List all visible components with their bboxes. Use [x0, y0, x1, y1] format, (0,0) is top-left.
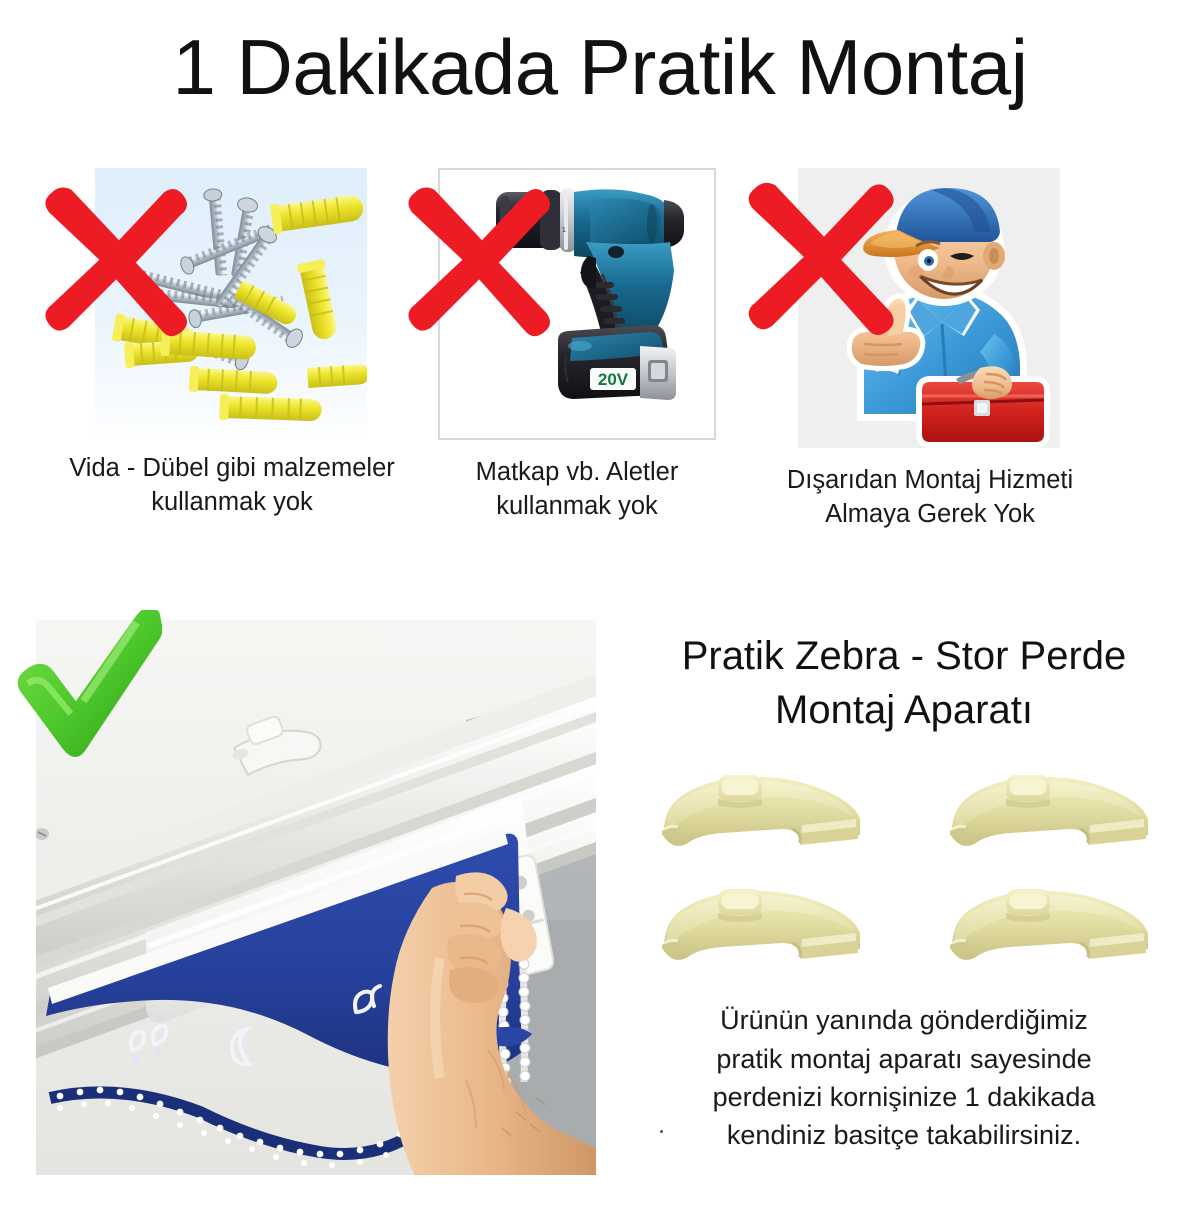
cordless-drill-illustration: 1: [440, 170, 714, 438]
caption-line-2: kullanmak yok: [422, 490, 732, 524]
product-description: Ürünün yanında gönderdiğimiz pratik mont…: [608, 1001, 1200, 1154]
product-heading-line-2: Montaj Aparatı: [620, 684, 1188, 738]
cordless-drill-photo: 1: [438, 168, 716, 440]
product-section: Pratik Zebra - Stor Perde Montaj Aparatı: [608, 630, 1200, 1155]
svg-text:1: 1: [562, 227, 566, 234]
caption-line-2: kullanmak yok: [58, 486, 406, 520]
caption-line-1: Matkap vb. Aletler: [422, 456, 732, 490]
no-need-card-drill: 1: [422, 168, 752, 524]
product-heading: Pratik Zebra - Stor Perde Montaj Aparatı: [608, 630, 1200, 737]
card-caption: Dışarıdan Montaj Hizmeti Almaya Gerek Yo…: [760, 464, 1100, 532]
caption-line-1: Vida - Dübel gibi malzemeler: [58, 452, 406, 486]
screws-and-dowels-photo: [95, 168, 367, 436]
description-line-2: pratik montaj aparatı sayesinde: [632, 1040, 1176, 1078]
product-heading-line-1: Pratik Zebra - Stor Perde: [620, 630, 1188, 684]
mounting-bracket-2: [940, 759, 1160, 855]
battery-voltage-label: 20V: [598, 370, 629, 389]
mounting-bracket-4: [940, 873, 1160, 969]
description-line-3: perdenizi kornişinize 1 dakikada: [632, 1078, 1176, 1116]
description-line-4: kendiniz basitçe takabilirsiniz.: [632, 1116, 1176, 1154]
screws-and-dowels-illustration: [95, 168, 367, 436]
caption-line-1: Dışarıdan Montaj Hizmeti: [760, 464, 1100, 498]
handyman-cartoon: [798, 168, 1060, 448]
stray-dot-artifact: [660, 1130, 663, 1133]
description-line-1: Ürünün yanında gönderdiğimiz: [632, 1001, 1176, 1039]
mounting-bracket-3: [652, 873, 872, 969]
blind-installation-photo: [36, 620, 596, 1175]
card-caption: Vida - Dübel gibi malzemeler kullanmak y…: [58, 452, 406, 520]
no-need-card-screws: Vida - Dübel gibi malzemeler kullanmak y…: [58, 168, 388, 520]
mounting-bracket-1: [652, 759, 872, 855]
handyman-illustration: [798, 168, 1060, 448]
no-need-section: Vida - Dübel gibi malzemeler kullanmak y…: [0, 168, 1200, 578]
no-need-card-handyman: Dışarıdan Montaj Hizmeti Almaya Gerek Yo…: [748, 168, 1078, 532]
card-caption: Matkap vb. Aletler kullanmak yok: [422, 456, 732, 524]
blind-installation-illustration: [36, 620, 596, 1175]
page-title: 1 Dakikada Pratik Montaj: [0, 22, 1200, 113]
caption-line-2: Almaya Gerek Yok: [760, 498, 1100, 532]
mounting-bracket-grid: [626, 759, 1186, 969]
